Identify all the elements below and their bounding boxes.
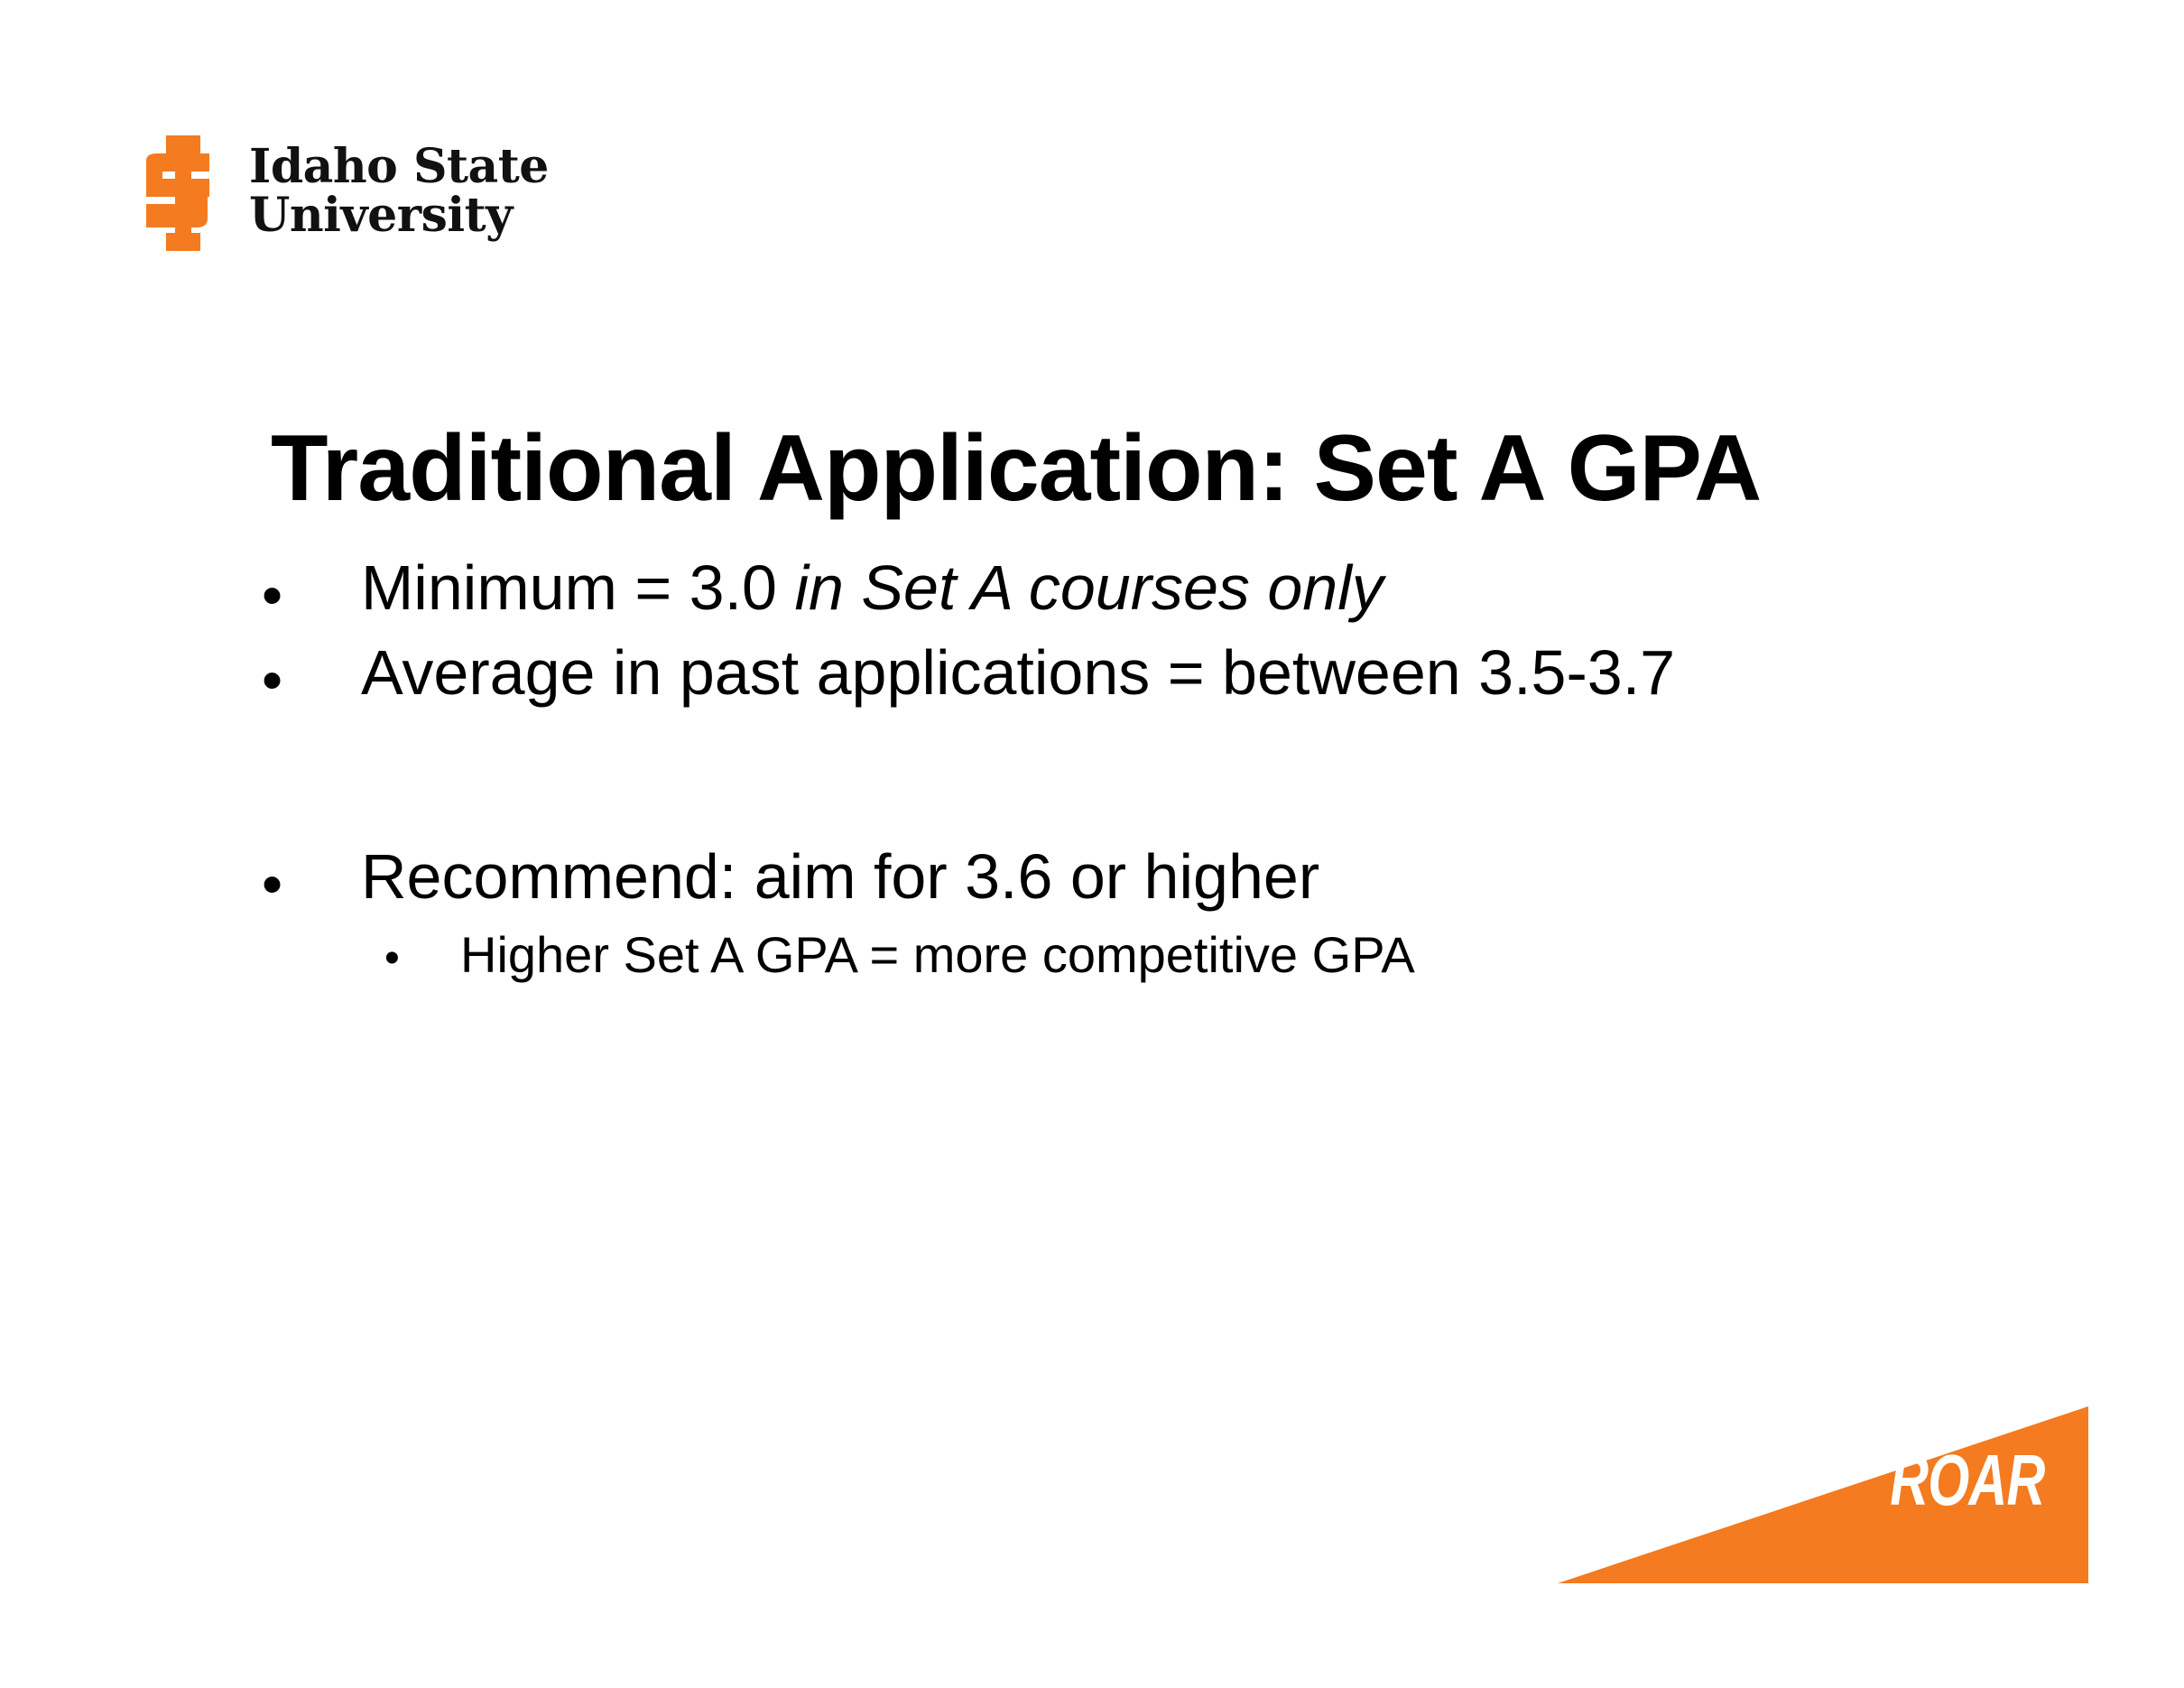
isu-interlocking-is-logo-icon bbox=[135, 134, 218, 253]
bullet-spacer bbox=[262, 722, 1913, 841]
isu-logo-lockup: Idaho State University bbox=[135, 134, 549, 253]
bullet-text-average-gpa: Average in past applications = between 3… bbox=[361, 637, 1913, 709]
bullet-marker-icon: • bbox=[262, 841, 361, 914]
bullet-marker-icon: • bbox=[262, 552, 361, 625]
wordmark-line-1: Idaho State bbox=[249, 143, 549, 191]
slide-title: Traditional Application: Set A GPA bbox=[271, 417, 1922, 520]
wordmark-line-2: University bbox=[249, 191, 549, 240]
bullet-text-competitive-gpa: Higher Set A GPA = more competitive GPA bbox=[460, 926, 1913, 984]
isu-wordmark: Idaho State University bbox=[249, 143, 549, 243]
bullet-marker-icon: • bbox=[262, 637, 361, 710]
bullet-marker-icon: • bbox=[384, 926, 460, 980]
bullet-item-average-gpa: • Average in past applications = between… bbox=[262, 637, 1913, 710]
roar-label: ROAR bbox=[1891, 1444, 2045, 1516]
slide-canvas: Idaho State University Traditional Appli… bbox=[0, 0, 2184, 1688]
bullet-item-recommendation: • Recommend: aim for 3.6 or higher bbox=[262, 841, 1913, 914]
bullet-list: • Minimum = 3.0 in Set A courses only • … bbox=[262, 552, 1913, 984]
bullet-text-minimum-gpa: Minimum = 3.0 in Set A courses only bbox=[361, 552, 1913, 624]
bullet-item-competitive-gpa: • Higher Set A GPA = more competitive GP… bbox=[384, 926, 1913, 984]
bullet-item-minimum-gpa: • Minimum = 3.0 in Set A courses only bbox=[262, 552, 1913, 625]
roar-banner: ROAR bbox=[1554, 1405, 2088, 1585]
bullet-text-recommendation: Recommend: aim for 3.6 or higher bbox=[361, 841, 1913, 913]
